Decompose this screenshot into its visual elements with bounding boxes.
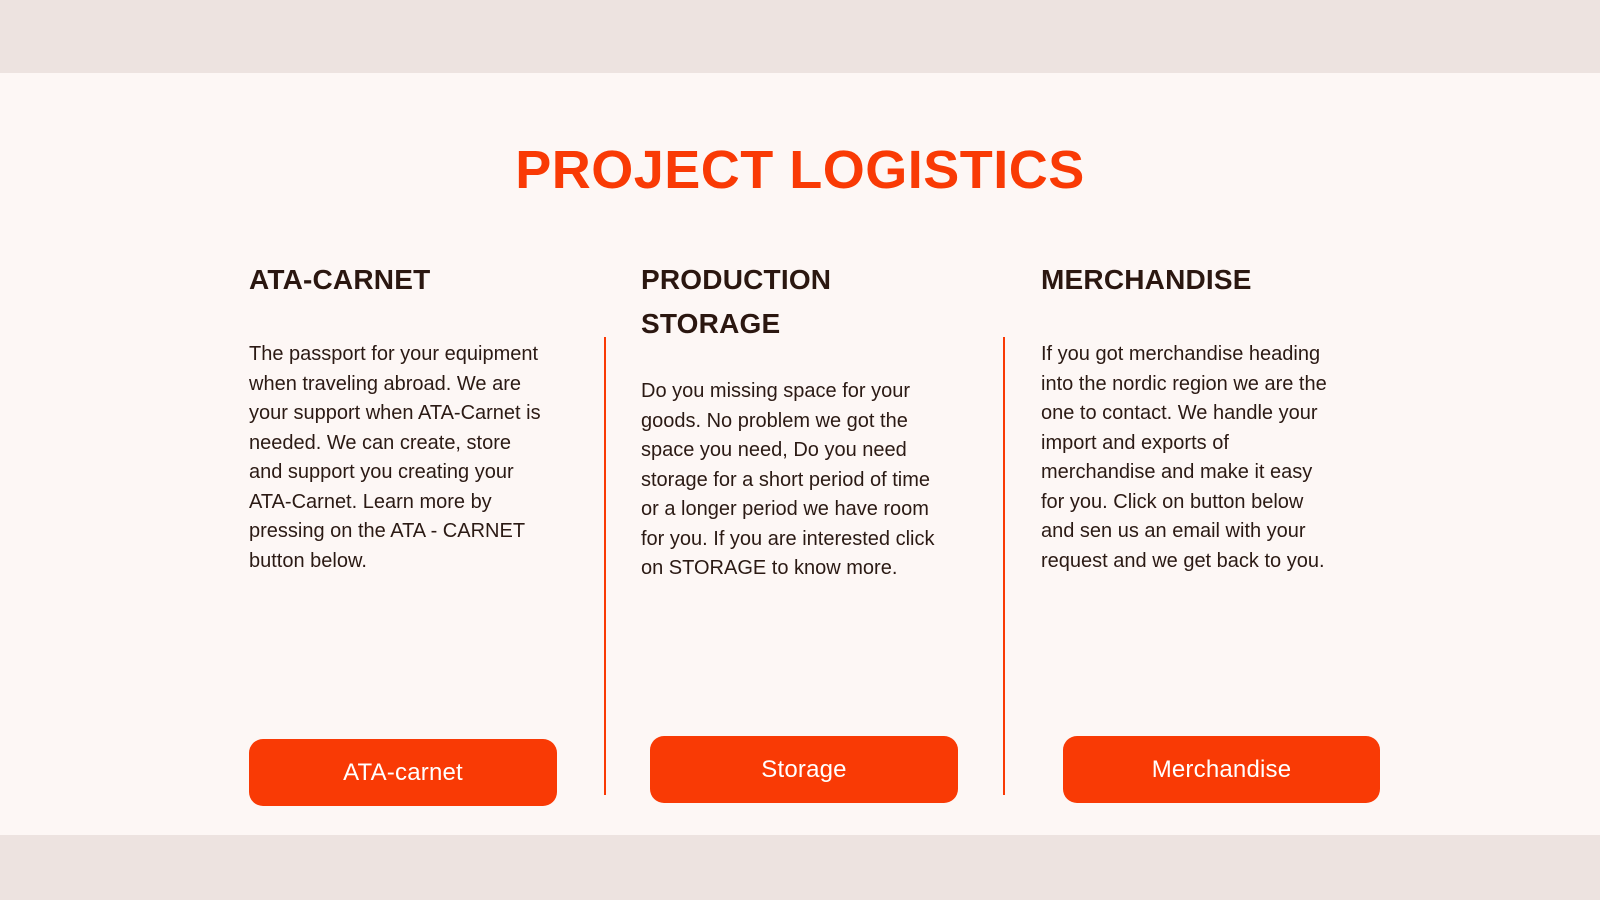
ata-carnet-button[interactable]: ATA-carnet bbox=[249, 739, 557, 806]
columns-container: ATA-CARNET The passport for your equipme… bbox=[249, 258, 1380, 733]
column-production-storage: PRODUCTION STORAGE Do you missing space … bbox=[641, 258, 941, 584]
page-title: PROJECT LOGISTICS bbox=[0, 143, 1600, 197]
column-ata-carnet: ATA-CARNET The passport for your equipme… bbox=[249, 258, 549, 576]
column-title-merchandise: MERCHANDISE bbox=[1041, 258, 1341, 302]
column-body-production-storage: Do you missing space for your goods. No … bbox=[641, 377, 941, 584]
column-body-merchandise: If you got merchandise heading into the … bbox=[1041, 340, 1341, 576]
column-title-ata-carnet: ATA-CARNET bbox=[249, 258, 549, 302]
bottom-band bbox=[0, 835, 1600, 900]
top-band bbox=[0, 0, 1600, 73]
column-title-production-storage: PRODUCTION STORAGE bbox=[641, 258, 941, 346]
page-root: PROJECT LOGISTICS ATA-CARNET The passpor… bbox=[0, 0, 1600, 900]
column-body-ata-carnet: The passport for your equipment when tra… bbox=[249, 340, 549, 576]
column-divider-left bbox=[604, 337, 606, 795]
project-logistics-section: PROJECT LOGISTICS ATA-CARNET The passpor… bbox=[0, 73, 1600, 835]
column-divider-right bbox=[1003, 337, 1005, 795]
merchandise-button[interactable]: Merchandise bbox=[1063, 736, 1380, 803]
column-merchandise: MERCHANDISE If you got merchandise headi… bbox=[1041, 258, 1341, 576]
storage-button[interactable]: Storage bbox=[650, 736, 958, 803]
